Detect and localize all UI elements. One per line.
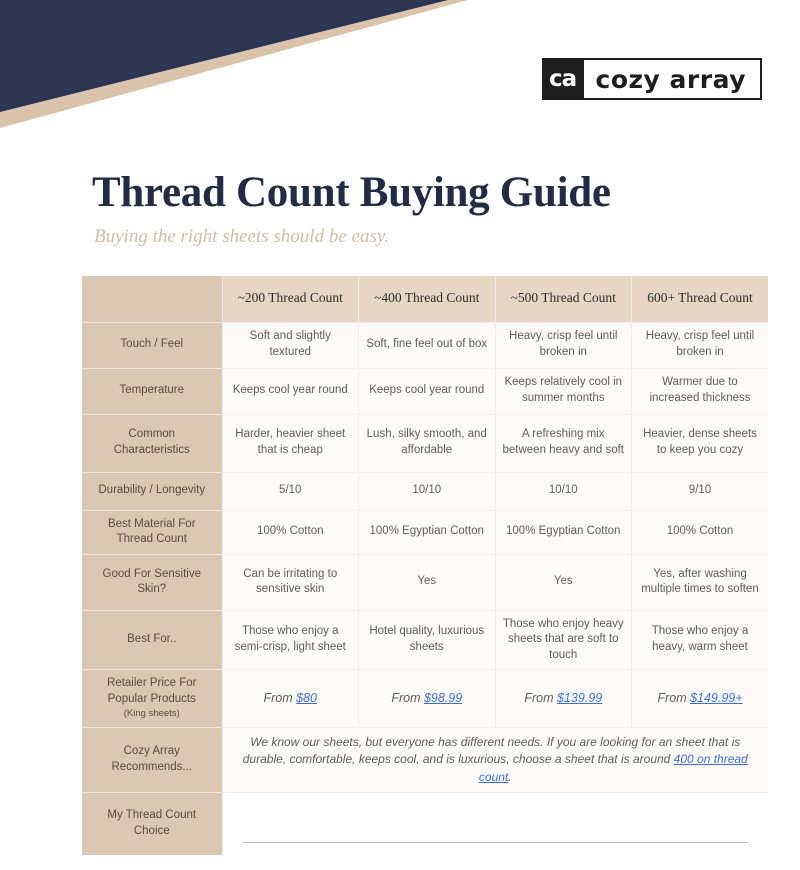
cell-price-500: From $139.99 [495,670,632,728]
table-row: Cozy Array Recommends... We know our she… [82,727,768,792]
page-title: Thread Count Buying Guide [92,168,611,217]
cell-bestfor-200: Those who enjoy a semi-crisp, light shee… [222,610,359,670]
row-label-durability-longevity: Durability / Longevity [82,472,222,510]
cell-temp-600: Warmer due to increased thickness [632,368,769,414]
table-row: Retailer Price For Popular Products (Kin… [82,670,768,728]
logo-wordmark: cozy array [584,58,762,100]
cell-temp-500: Keeps relatively cool in summer months [495,368,632,414]
page-subtitle: Buying the right sheets should be easy. [94,226,389,248]
cell-material-500: 100% Egyptian Cotton [495,510,632,554]
row-label-temperature: Temperature [82,368,222,414]
table-row: Best For.. Those who enjoy a semi-crisp,… [82,610,768,670]
cell-common-200: Harder, heavier sheet that is cheap [222,414,359,472]
cell-common-500: A refreshing mix between heavy and soft [495,414,632,472]
table-row: Touch / Feel Soft and slightly textured … [82,322,768,368]
cell-common-600: Heavier, dense sheets to keep you cozy [632,414,769,472]
price-link-200[interactable]: $80 [296,691,317,705]
cell-my-choice-input[interactable] [222,793,768,855]
cell-durability-400: 10/10 [359,472,496,510]
price-link-400[interactable]: $98.99 [424,691,462,705]
price-prefix: From [524,691,557,705]
recommendation-text-before: We know our sheets, but everyone has dif… [243,735,741,766]
row-label-retailer-price-sub: (King sheets) [89,708,215,721]
cell-durability-200: 5/10 [222,472,359,510]
cell-temp-200: Keeps cool year round [222,368,359,414]
row-label-common-characteristics: Common Characteristics [82,414,222,472]
cell-bestfor-500: Those who enjoy heavy sheets that are so… [495,610,632,670]
brand-logo[interactable]: ca cozy array [542,58,762,100]
column-header-400: ~400 Thread Count [359,276,496,322]
price-prefix: From [264,691,297,705]
cell-price-200: From $80 [222,670,359,728]
cell-touch-200: Soft and slightly textured [222,322,359,368]
cell-skin-600: Yes, after washing multiple times to sof… [632,554,769,610]
price-prefix: From [391,691,424,705]
write-in-line [243,842,749,843]
cell-material-600: 100% Cotton [632,510,769,554]
cell-temp-400: Keeps cool year round [359,368,496,414]
row-label-retailer-price-main: Retailer Price For Popular Products [107,677,196,705]
table-row: Temperature Keeps cool year round Keeps … [82,368,768,414]
cell-price-600: From $149.99+ [632,670,769,728]
cell-recommendation: We know our sheets, but everyone has dif… [222,727,768,792]
cell-bestfor-600: Those who enjoy a heavy, warm sheet [632,610,769,670]
cell-durability-600: 9/10 [632,472,769,510]
cell-touch-500: Heavy, crisp feel until broken in [495,322,632,368]
table-row: Best Material For Thread Count 100% Cott… [82,510,768,554]
banner-tan-wedge [0,0,468,128]
cell-material-200: 100% Cotton [222,510,359,554]
cell-touch-400: Soft, fine feel out of box [359,322,496,368]
price-link-600[interactable]: $149.99+ [690,691,742,705]
row-label-best-material: Best Material For Thread Count [82,510,222,554]
cell-material-400: 100% Egyptian Cotton [359,510,496,554]
row-label-my-thread-count-choice: My Thread Count Choice [82,793,222,855]
row-label-best-for: Best For.. [82,610,222,670]
row-label-cozy-array-recommends: Cozy Array Recommends... [82,727,222,792]
price-prefix: From [657,691,690,705]
cell-price-400: From $98.99 [359,670,496,728]
table-row: Durability / Longevity 5/10 10/10 10/10 … [82,472,768,510]
cell-skin-500: Yes [495,554,632,610]
column-header-200: ~200 Thread Count [222,276,359,322]
cell-durability-500: 10/10 [495,472,632,510]
cell-skin-200: Can be irritating to sensitive skin [222,554,359,610]
cell-touch-600: Heavy, crisp feel until broken in [632,322,769,368]
recommendation-text-after: . [508,770,511,784]
cell-bestfor-400: Hotel quality, luxurious sheets [359,610,496,670]
cell-skin-400: Yes [359,554,496,610]
thread-count-comparison-table: ~200 Thread Count ~400 Thread Count ~500… [82,276,768,855]
row-label-sensitive-skin: Good For Sensitive Skin? [82,554,222,610]
column-header-600: 600+ Thread Count [632,276,769,322]
header-corner-cell [82,276,222,322]
row-label-retailer-price: Retailer Price For Popular Products (Kin… [82,670,222,728]
logo-monogram-icon: ca [542,58,584,100]
banner-navy-wedge [0,0,448,112]
table-row: Good For Sensitive Skin? Can be irritati… [82,554,768,610]
column-header-500: ~500 Thread Count [495,276,632,322]
table-row: My Thread Count Choice [82,793,768,855]
row-label-touch-feel: Touch / Feel [82,322,222,368]
table-row: Common Characteristics Harder, heavier s… [82,414,768,472]
table-header-row: ~200 Thread Count ~400 Thread Count ~500… [82,276,768,322]
price-link-500[interactable]: $139.99 [557,691,602,705]
cell-common-400: Lush, silky smooth, and affordable [359,414,496,472]
